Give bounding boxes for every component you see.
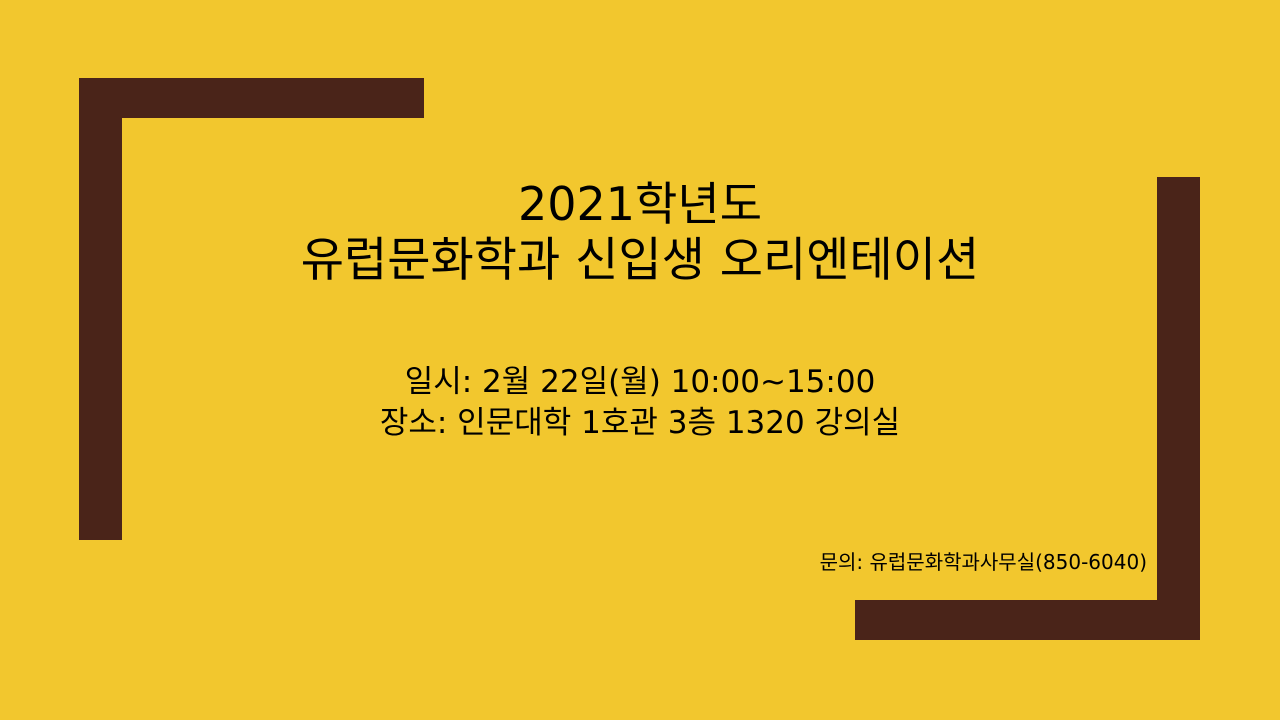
poster-content: 2021학년도 유럽문화학과 신입생 오리엔테이션 일시: 2월 22일(월) … bbox=[0, 0, 1280, 720]
title-line-event-name: 유럽문화학과 신입생 오리엔테이션 bbox=[0, 232, 1280, 289]
event-details: 일시: 2월 22일(월) 10:00~15:00 장소: 인문대학 1호관 3… bbox=[0, 362, 1280, 444]
contact-info: 문의: 유럽문화학과사무실(850-6040) bbox=[0, 546, 1147, 575]
detail-location: 장소: 인문대학 1호관 3층 1320 강의실 bbox=[0, 403, 1280, 444]
contact-office-phone: 문의: 유럽문화학과사무실(850-6040) bbox=[820, 546, 1147, 575]
detail-datetime: 일시: 2월 22일(월) 10:00~15:00 bbox=[0, 362, 1280, 403]
title-line-academic-year: 2021학년도 bbox=[0, 176, 1280, 232]
page-title: 2021학년도 유럽문화학과 신입생 오리엔테이션 bbox=[0, 176, 1280, 289]
poster-slide: 2021학년도 유럽문화학과 신입생 오리엔테이션 일시: 2월 22일(월) … bbox=[0, 0, 1280, 720]
